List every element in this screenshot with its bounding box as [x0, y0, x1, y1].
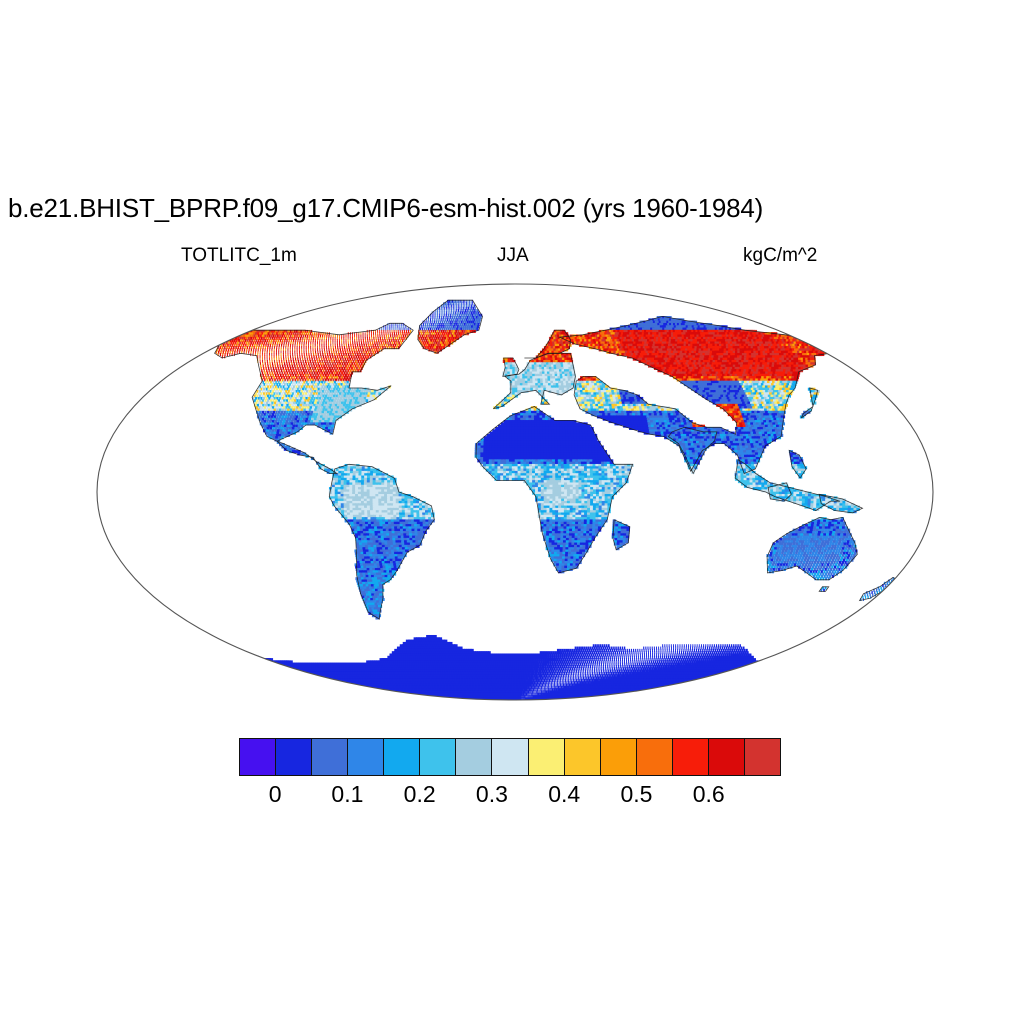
colorbar-cell-12[interactable] — [673, 739, 709, 775]
world-map — [95, 272, 935, 712]
colorbar[interactable] — [239, 738, 781, 776]
figure-canvas: b.e21.BHIST_BPRP.f09_g17.CMIP6-esm-hist.… — [0, 0, 1024, 1024]
season-label: JJA — [497, 245, 529, 267]
colorbar-cell-11[interactable] — [637, 739, 673, 775]
colorbar-tick-1: 0.1 — [331, 780, 363, 808]
colorbar-cell-0[interactable] — [240, 739, 276, 775]
colorbar-cell-6[interactable] — [456, 739, 492, 775]
map-svg — [95, 272, 935, 712]
colorbar-cell-13[interactable] — [709, 739, 745, 775]
map-data-layer — [202, 300, 895, 701]
colorbar-cell-14[interactable] — [745, 739, 780, 775]
figure-title: b.e21.BHIST_BPRP.f09_g17.CMIP6-esm-hist.… — [8, 193, 1018, 223]
colorbar-cell-10[interactable] — [601, 739, 637, 775]
colorbar-cell-1[interactable] — [276, 739, 312, 775]
variable-label: TOTLITC_1m — [181, 245, 297, 267]
colorbar-tick-3: 0.3 — [476, 780, 508, 808]
colorbar-cell-5[interactable] — [420, 739, 456, 775]
colorbar-tick-0: 0 — [269, 780, 282, 808]
colorbar-cell-8[interactable] — [529, 739, 565, 775]
colorbar-cell-7[interactable] — [492, 739, 528, 775]
colorbar-tick-6: 0.6 — [693, 780, 725, 808]
units-label: kgC/m^2 — [743, 245, 817, 267]
colorbar-tick-labels: 00.10.20.30.40.50.6 — [239, 780, 781, 812]
colorbar-cell-2[interactable] — [312, 739, 348, 775]
colorbar-cell-9[interactable] — [565, 739, 601, 775]
colorbar-tick-4: 0.4 — [548, 780, 580, 808]
colorbar-cell-4[interactable] — [384, 739, 420, 775]
colorbar-tick-2: 0.2 — [404, 780, 436, 808]
colorbar-cell-3[interactable] — [348, 739, 384, 775]
colorbar-tick-5: 0.5 — [620, 780, 652, 808]
